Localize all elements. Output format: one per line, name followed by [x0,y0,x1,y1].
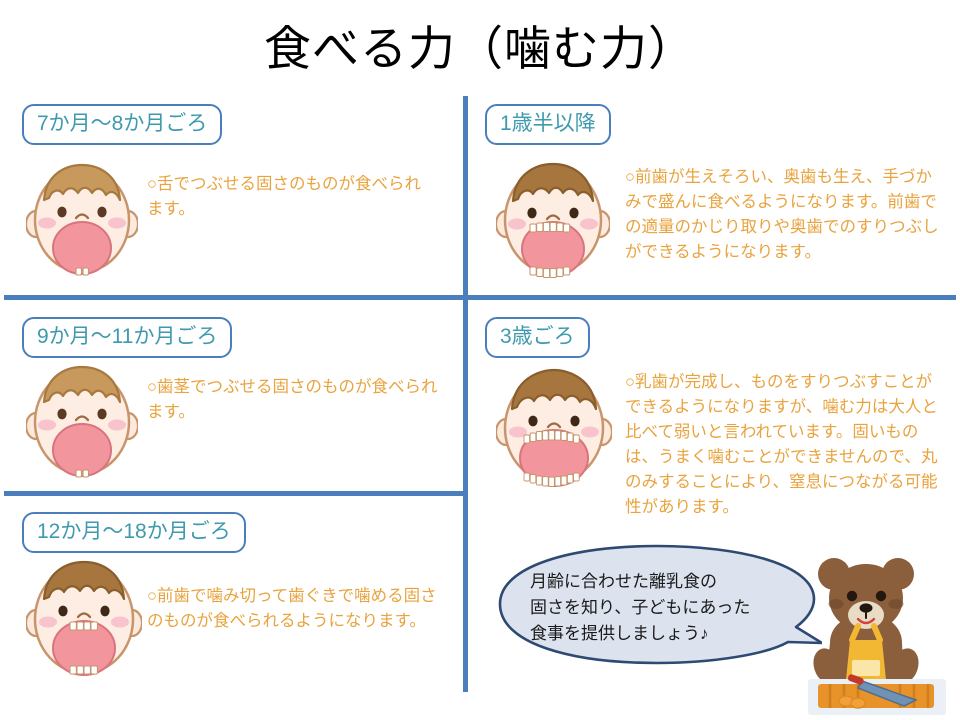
body-text-months-12-18: ○前歯で噛み切って歯ぐきで噛める固さのものが食べられるようになります。 [147,584,447,634]
divider-vertical-center [463,96,468,692]
child-face-more-teeth-icon [496,160,610,280]
callout-text: 月齢に合わせた離乳食の 固さを知り、子どもにあった 食事を提供しましょう♪ [530,569,782,647]
bear-cooking-icon [800,548,952,720]
callout-speech-bubble: 月齢に合わせた離乳食の 固さを知り、子どもにあった 食事を提供しましょう♪ [492,543,822,671]
age-chip-age-1-5-plus: 1歳半以降 [485,104,611,145]
baby-face-two-lower-teeth-icon [26,160,138,278]
age-chip-months-12-18: 12か月～18か月ごろ [22,512,246,553]
baby-face-two-lower-teeth-icon-2 [26,362,138,480]
child-face-full-teeth-icon [496,366,612,490]
divider-horizontal-right [466,295,956,300]
age-chip-months-9-11: 9か月～11か月ごろ [22,317,232,358]
infographic-page: 食べる力（噛む力） 7か月～8か月ごろ ○舌でつぶせる固さのものが食べられます。… [0,0,960,720]
page-title: 食べる力（噛む力） [0,18,960,80]
age-chip-months-7-8: 7か月～8か月ごろ [22,104,222,145]
age-chip-age-3: 3歳ごろ [485,317,590,358]
body-text-age-1-5-plus: ○前歯が生えそろい、奥歯も生え、手づかみで盛んに食べるようになります。前歯での適… [625,165,945,265]
child-face-front-teeth-icon [26,557,142,681]
body-text-months-9-11: ○歯茎でつぶせる固さのものが食べられます。 [147,375,439,425]
body-text-months-7-8: ○舌でつぶせる固さのものが食べられます。 [147,172,432,222]
body-text-age-3: ○乳歯が完成し、ものをすりつぶすことができるようになりますが、噛む力は大人と比べ… [625,370,945,520]
divider-horizontal-left-upper [4,295,466,300]
divider-horizontal-left-lower [4,491,466,496]
